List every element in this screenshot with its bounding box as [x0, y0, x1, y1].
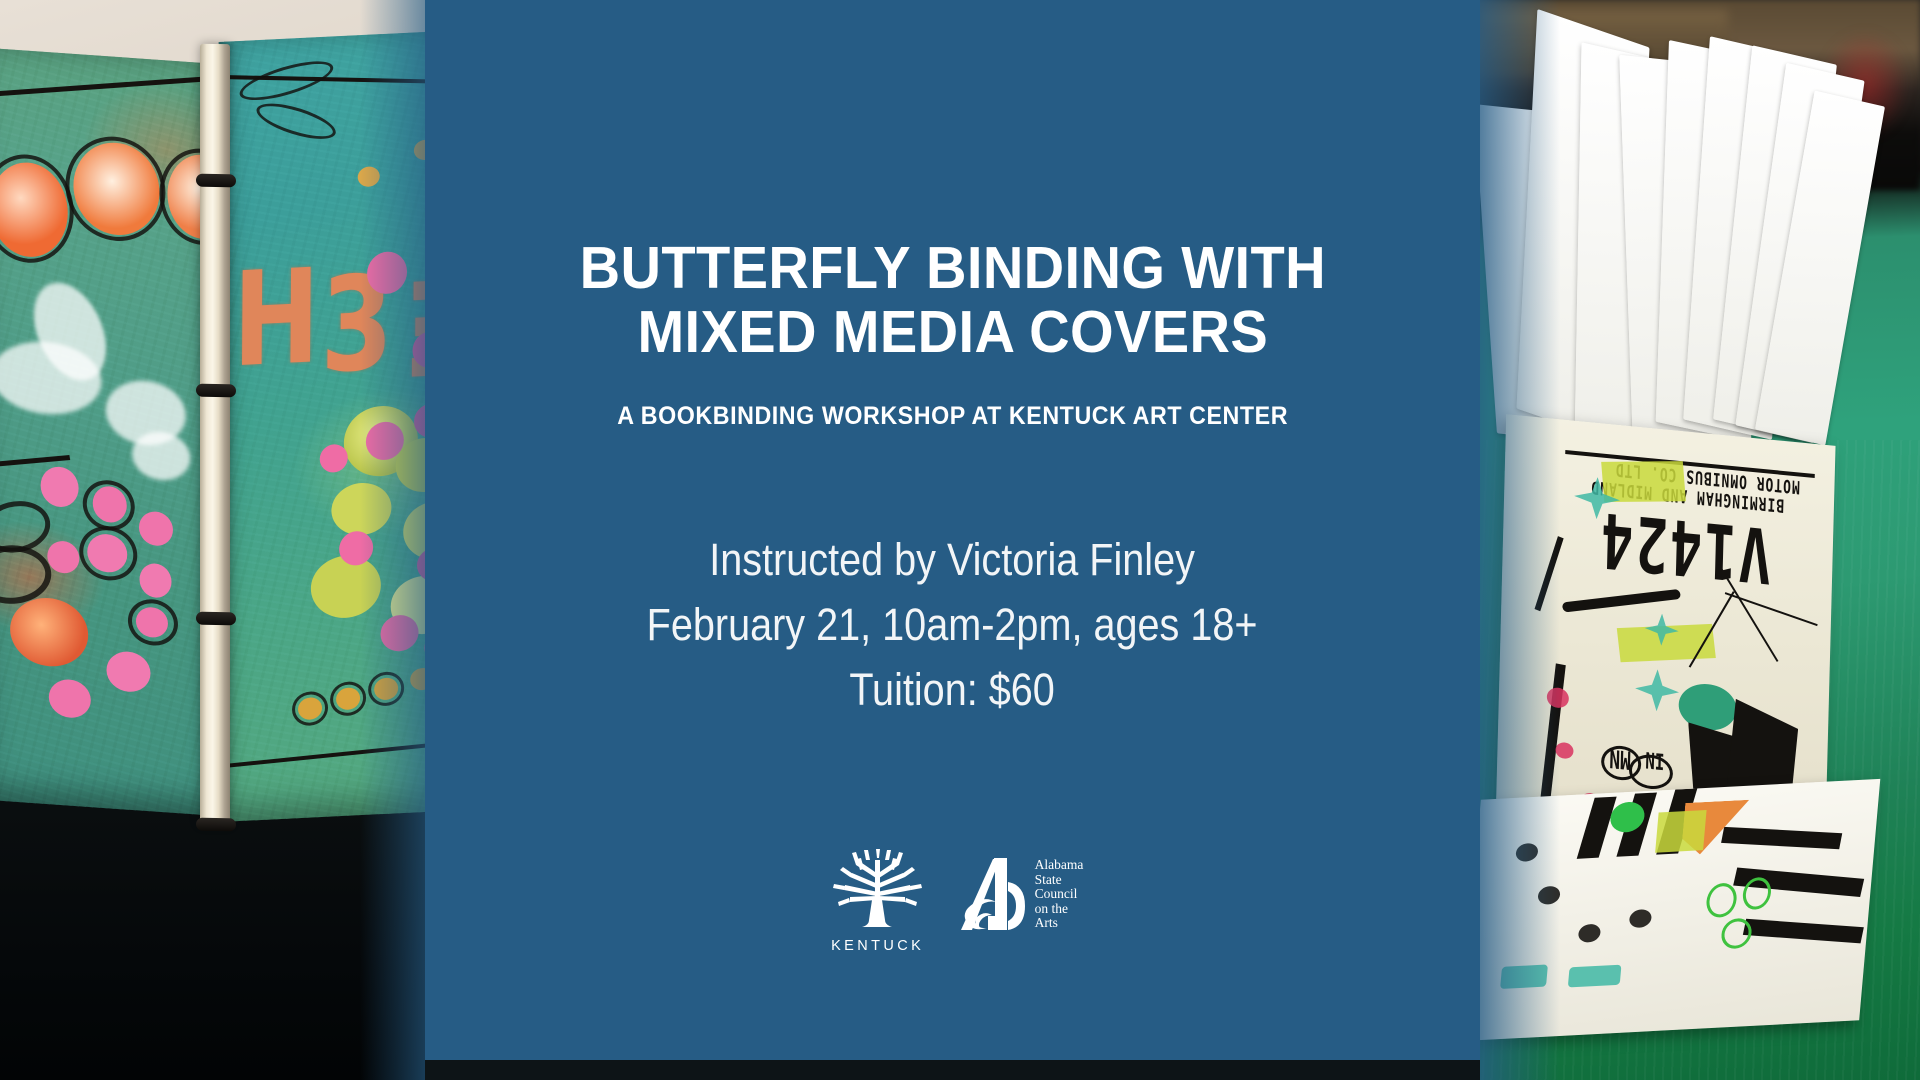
printed-letters: MN: [1609, 743, 1631, 774]
asca-line-4: on the: [1035, 902, 1084, 917]
book-cover-left: [0, 47, 226, 816]
workshop-promo-poster: H 3 Ǝ: [0, 0, 1920, 1080]
asca-line-2: State: [1035, 873, 1084, 888]
title-line-1: BUTTERFLY BINDING WITH: [579, 236, 1325, 300]
binding-thread: [196, 818, 236, 832]
asca-wordmark: Alabama State Council on the Arts: [1035, 856, 1084, 931]
printed-serial: V1424: [1598, 495, 1772, 600]
kentuck-wordmark: KENTUCK: [831, 938, 924, 954]
tree-icon: [830, 848, 926, 934]
alabama-state-council-logo: Alabama State Council on the Arts: [960, 848, 1084, 932]
asca-line-1: Alabama: [1035, 858, 1084, 873]
page-subtitle: A BOOKBINDING WORKSHOP AT KENTUCK ART CE…: [617, 402, 1288, 431]
binding-thread: [196, 612, 236, 626]
binding-thread: [196, 384, 236, 398]
photo-left-butterfly-bound-book: H 3 Ǝ: [0, 0, 470, 1080]
detail-date-time-age: February 21, 10am-2pm, ages 18+: [647, 592, 1258, 657]
asca-line-3: Council: [1035, 887, 1084, 902]
stencil-letter: H: [232, 240, 318, 397]
center-blue-panel: BUTTERFLY BINDING WITH MIXED MEDIA COVER…: [425, 0, 1480, 1060]
kentuck-logo: KENTUCK: [822, 848, 934, 954]
printed-letters: IN: [1645, 747, 1665, 775]
title-line-2: MIXED MEDIA COVERS: [579, 300, 1325, 364]
workshop-details: Instructed by Victoria Finley February 2…: [647, 527, 1258, 722]
asca-monogram-icon: [960, 856, 1028, 932]
binding-thread: [196, 174, 236, 188]
book-spine: [200, 44, 230, 824]
detail-tuition: Tuition: $60: [647, 657, 1258, 722]
page-title: BUTTERFLY BINDING WITH MIXED MEDIA COVER…: [579, 236, 1325, 364]
photo-right-open-book: MOTOR OMNIBUS CO. LTD BIRMINGHAM AND MID…: [1450, 0, 1920, 1080]
asca-line-5: Arts: [1035, 916, 1084, 931]
bottom-edge-strip: [425, 1060, 1480, 1080]
detail-instructor: Instructed by Victoria Finley: [647, 527, 1258, 592]
logo-row: KENTUCK: [425, 848, 1480, 954]
